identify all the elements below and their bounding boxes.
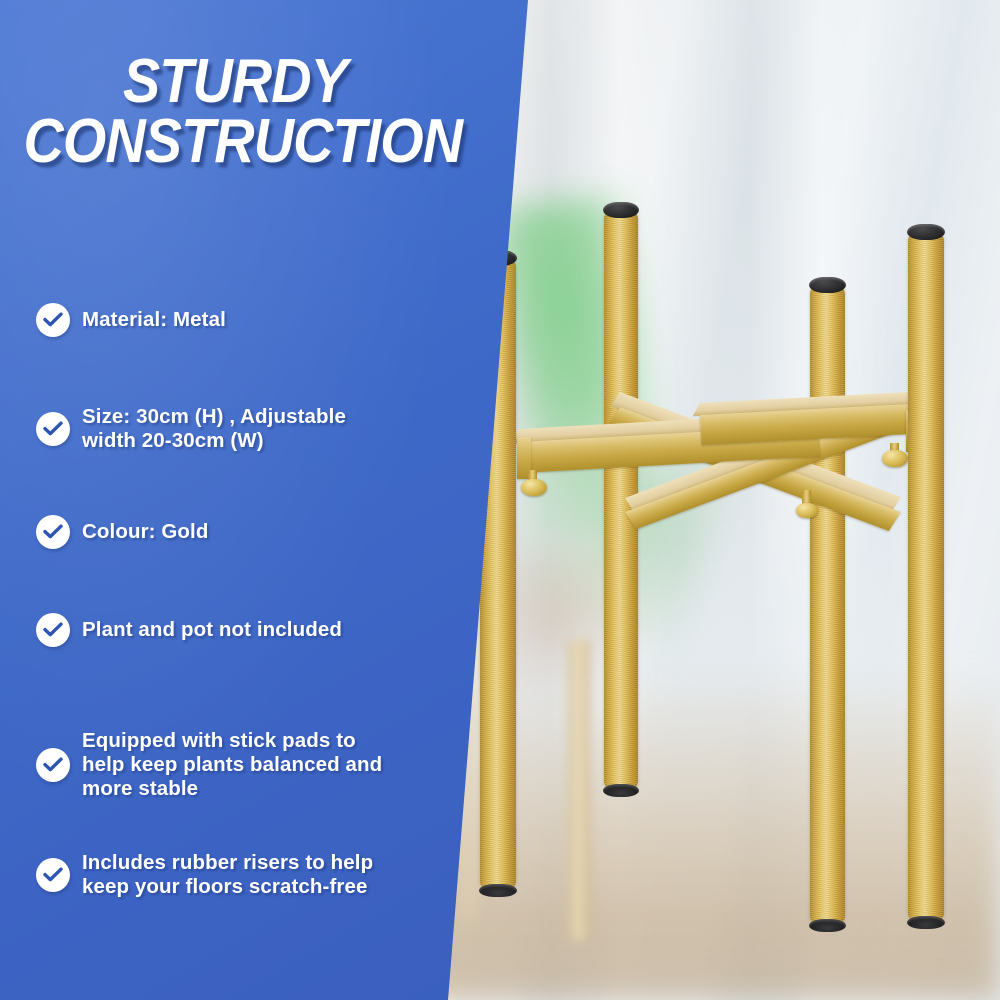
list-item: Material: Metal — [36, 303, 226, 337]
list-item-label: Material: Metal — [82, 308, 226, 332]
rubber-cap-bottom-icon — [479, 884, 517, 897]
rubber-cap-bottom-icon — [603, 784, 639, 797]
rubber-cap-top-icon — [809, 277, 846, 293]
list-item-label: Equipped with stick pads to help keep pl… — [82, 729, 382, 801]
product-infographic: STURDY CONSTRUCTION Material: Metal Size… — [0, 0, 1000, 1000]
rail-right-thumbscrew — [882, 450, 908, 467]
list-item: Colour: Gold — [36, 515, 208, 549]
list-item-label: Size: 30cm (H) , Adjustable width 20-30c… — [82, 405, 346, 453]
rubber-cap-bottom-icon — [907, 916, 945, 929]
list-item: Size: 30cm (H) , Adjustable width 20-30c… — [36, 405, 346, 453]
check-circle-icon — [36, 858, 70, 892]
stand-leg-back-right — [810, 285, 845, 925]
list-item: Equipped with stick pads to help keep pl… — [36, 729, 382, 801]
list-item-label: Includes rubber risers to help keep your… — [82, 851, 373, 899]
feature-list: Material: Metal Size: 30cm (H) , Adjusta… — [0, 0, 470, 1000]
list-item: Plant and pot not included — [36, 613, 342, 647]
check-circle-icon — [36, 412, 70, 446]
check-circle-icon — [36, 303, 70, 337]
check-circle-icon — [36, 613, 70, 647]
list-item-label: Colour: Gold — [82, 520, 208, 544]
list-item-label: Plant and pot not included — [82, 618, 342, 642]
rail-left-thumbscrew — [521, 479, 547, 496]
check-circle-icon — [36, 515, 70, 549]
list-item: Includes rubber risers to help keep your… — [36, 851, 373, 899]
rubber-cap-top-icon — [907, 224, 945, 240]
brace-pivot-thumbscrew — [796, 503, 818, 518]
check-circle-icon — [36, 748, 70, 782]
rubber-cap-bottom-icon — [809, 919, 846, 932]
rubber-cap-top-icon — [603, 202, 639, 218]
stand-leg-front-right — [908, 232, 944, 922]
